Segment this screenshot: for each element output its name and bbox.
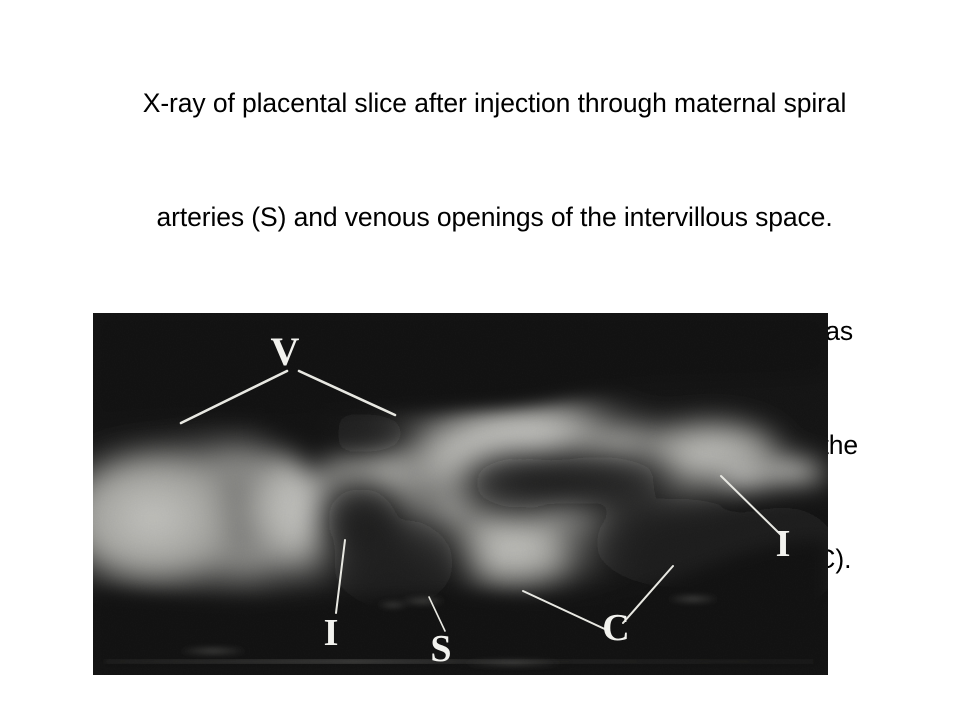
xray-label-i-left: I bbox=[324, 612, 339, 654]
caption-line-1: X-ray of placental slice after injection… bbox=[56, 46, 904, 160]
xray-canvas: V I S C I bbox=[93, 313, 828, 675]
xray-film-grain bbox=[93, 313, 828, 675]
xray-image: V I S C I bbox=[93, 313, 828, 675]
caption-text: arteries (S) and venous openings of the … bbox=[156, 202, 832, 232]
caption-line-2: arteries (S) and venous openings of the … bbox=[56, 160, 904, 274]
xray-label-v: V bbox=[271, 329, 300, 374]
caption-text: X-ray of placental slice after injection… bbox=[143, 88, 847, 118]
xray-label-i-right: I bbox=[776, 523, 791, 565]
xray-label-s: S bbox=[430, 628, 451, 670]
xray-label-c: C bbox=[602, 607, 629, 649]
